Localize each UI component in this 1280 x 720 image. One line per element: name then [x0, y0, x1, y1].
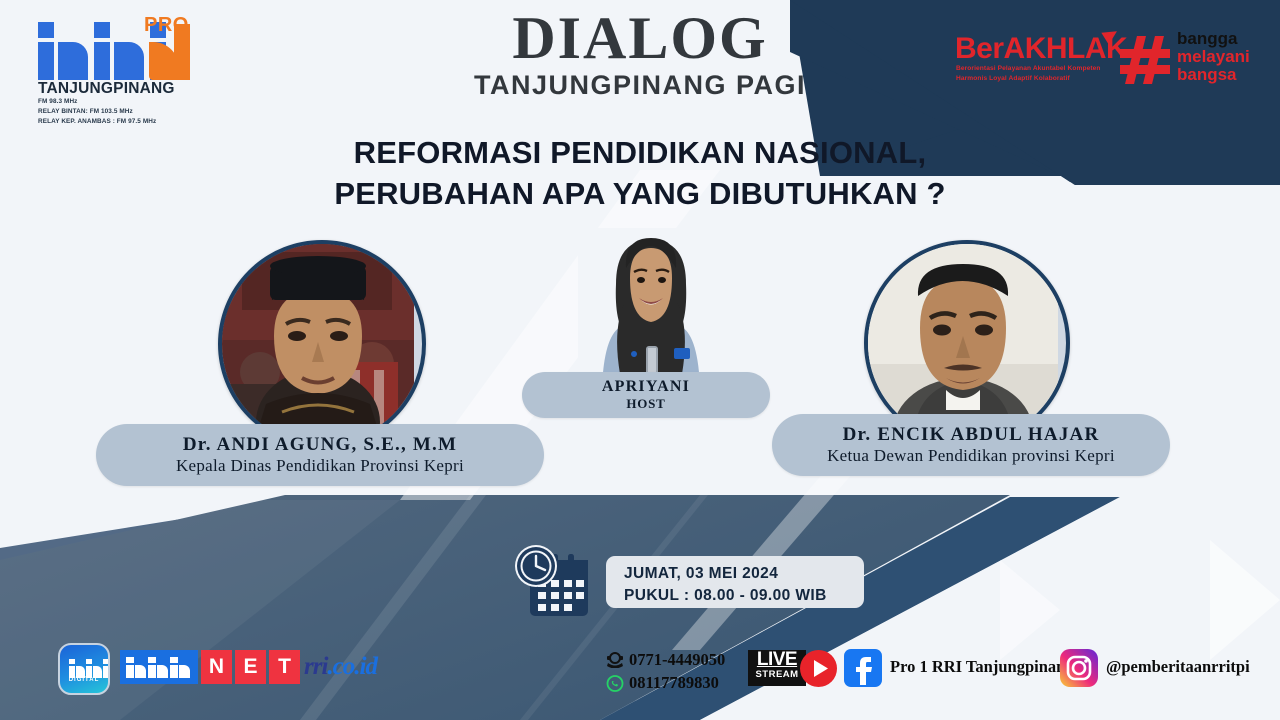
speaker-2-nameplate: Dr. ENCIK ABDUL HAJAR Ketua Dewan Pendid… — [772, 414, 1170, 476]
stream-label: STREAM — [748, 669, 806, 680]
topic-line-2: PERUBAHAN APA YANG DIBUTUHKAN ? — [0, 174, 1280, 215]
speaker-2-role: Ketua Dewan Pendidikan provinsi Kepri — [772, 446, 1170, 466]
net-letter-t: T — [269, 650, 300, 684]
website-brand: rri — [304, 653, 327, 680]
tagline-line2: melayani — [1177, 48, 1250, 66]
speaker-1-nameplate: Dr. ANDI AGUNG, S.E., M.M Kepala Dinas P… — [96, 424, 544, 486]
berakhlak-values-line2: Harmonis Loyal Adaptif Kolaboratif — [956, 74, 1106, 84]
whatsapp-number: 08117789830 — [629, 671, 719, 694]
station-frequency-main: FM 98.3 MHz — [38, 98, 77, 105]
berakhlak-wordmark: BerAKHLAK — [955, 32, 1127, 66]
schedule-date: JUMAT, 03 MEI 2024 — [624, 563, 864, 585]
berakhlak-values: Berorientasi Pelayanan Akuntabel Kompete… — [956, 64, 1106, 83]
speaker-2-name: Dr. ENCIK ABDUL HAJAR — [772, 424, 1170, 446]
phone-row: 0771-4449050 — [606, 648, 756, 671]
rri-digital-label: DIGITAL — [60, 677, 108, 683]
speaker-1-avatar — [218, 240, 426, 448]
rri-wordmark-icon: PRO — [36, 18, 186, 80]
station-frequency-relay-bintan: RELAY BINTAN: FM 103.5 MHz — [38, 108, 133, 115]
tagline-line3: bangsa — [1177, 66, 1250, 84]
pro-badge-label: PRO — [144, 14, 189, 37]
telephone-icon — [606, 652, 624, 668]
hashtag-icon — [1120, 36, 1172, 84]
rri-digital-app-icon[interactable]: DIGITAL — [58, 643, 110, 695]
berakhlak-values-line1: Berorientasi Pelayanan Akuntabel Kompete… — [956, 64, 1106, 74]
facebook-handle[interactable]: Pro 1 RRI Tanjungpinang — [890, 657, 1074, 677]
instagram-icon[interactable] — [1060, 649, 1098, 687]
whatsapp-row: 08117789830 — [606, 671, 756, 694]
host-nameplate: APRIYANI HOST — [522, 372, 770, 418]
station-city: TANJUNGPINANG — [38, 80, 175, 98]
schedule-time: PUKUL : 08.00 - 09.00 WIB — [624, 585, 864, 607]
whatsapp-icon — [606, 675, 624, 692]
broadcast-promo-graphic: PRO TANJUNGPINANG FM 98.3 MHz RELAY BINT… — [0, 0, 1280, 720]
facebook-icon[interactable] — [844, 649, 882, 687]
berakhlak-logo: BerAKHLAK Berorientasi Pelayanan Akuntab… — [955, 24, 1255, 94]
net-letter-n: N — [201, 650, 232, 684]
live-stream-badge: LIVE STREAM — [748, 650, 806, 686]
rri-net-wordmark-icon — [120, 650, 198, 684]
contact-info: 0771-4449050 08117789830 — [606, 648, 756, 695]
schedule-box: JUMAT, 03 MEI 2024 PUKUL : 08.00 - 09.00… — [606, 556, 864, 608]
live-label: LIVE — [748, 650, 806, 669]
website-url[interactable]: rri.co.id — [304, 653, 377, 681]
host-role: HOST — [522, 396, 770, 412]
berakhlak-tagline: bangga melayani bangsa — [1177, 30, 1250, 84]
speaker-1-name: Dr. ANDI AGUNG, S.E., M.M — [96, 434, 544, 456]
topic-headline: REFORMASI PENDIDIKAN NASIONAL, PERUBAHAN… — [0, 133, 1280, 215]
rri-pro1-logo: PRO TANJUNGPINANG FM 98.3 MHz RELAY BINT… — [36, 18, 236, 118]
youtube-play-icon[interactable] — [800, 650, 837, 687]
station-frequency-relay-anambas: RELAY KEP. ANAMBAS : FM 97.5 MHz — [38, 118, 156, 125]
topic-line-1: REFORMASI PENDIDIKAN NASIONAL, — [0, 133, 1280, 174]
speaker-1-role: Kepala Dinas Pendidikan Provinsi Kepri — [96, 456, 544, 476]
instagram-handle[interactable]: @pemberitaanrritpi — [1106, 657, 1250, 677]
net-letter-e: E — [235, 650, 266, 684]
tagline-line1: bangga — [1177, 30, 1250, 48]
rri-net-logo[interactable]: N E T rri.co.id — [120, 650, 377, 684]
website-tld: .co.id — [327, 653, 377, 680]
host-avatar — [578, 228, 724, 388]
host-name: APRIYANI — [522, 378, 770, 396]
calendar-clock-icon — [508, 544, 594, 620]
phone-number: 0771-4449050 — [629, 648, 725, 671]
